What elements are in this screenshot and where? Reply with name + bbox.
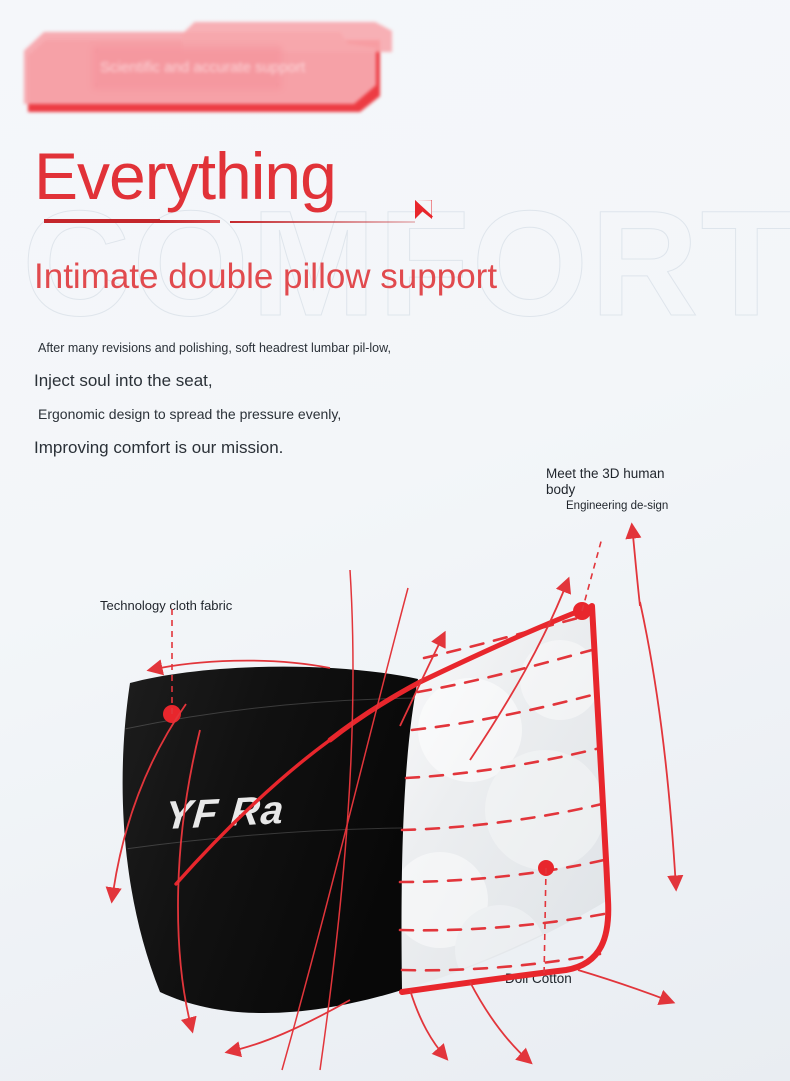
arrow-bottom-right	[470, 982, 530, 1062]
page-title: Everything	[34, 140, 336, 212]
arrow-right-bottom	[578, 970, 672, 1002]
arrow-cursor-icon	[412, 197, 438, 223]
arrow-bottom-mid	[410, 990, 446, 1058]
title-underline-taper	[160, 220, 220, 223]
top-banner: Scientific and accurate support	[24, 32, 384, 114]
copy-line-1: After many revisions and polishing, soft…	[38, 340, 423, 356]
pillow-illustration: YF Ra	[0, 430, 790, 1081]
product-diagram: YF Ra	[0, 430, 790, 1081]
product-infographic-page: Scientific and accurate support COMFORTS…	[0, 0, 790, 1081]
copy-line-2: Inject soul into the seat,	[34, 370, 464, 392]
banner-label: Scientific and accurate support	[100, 58, 350, 77]
leader-meet-3d	[582, 538, 602, 611]
arrow-right-up	[632, 526, 640, 606]
title-underline-thick	[44, 219, 160, 223]
pillow-filling	[392, 606, 608, 995]
arrow-right-down	[640, 602, 676, 888]
title-underline-thin	[230, 221, 415, 223]
page-subtitle: Intimate double pillow support	[34, 255, 497, 299]
copy-line-3: Ergonomic design to spread the pressure …	[38, 405, 464, 424]
